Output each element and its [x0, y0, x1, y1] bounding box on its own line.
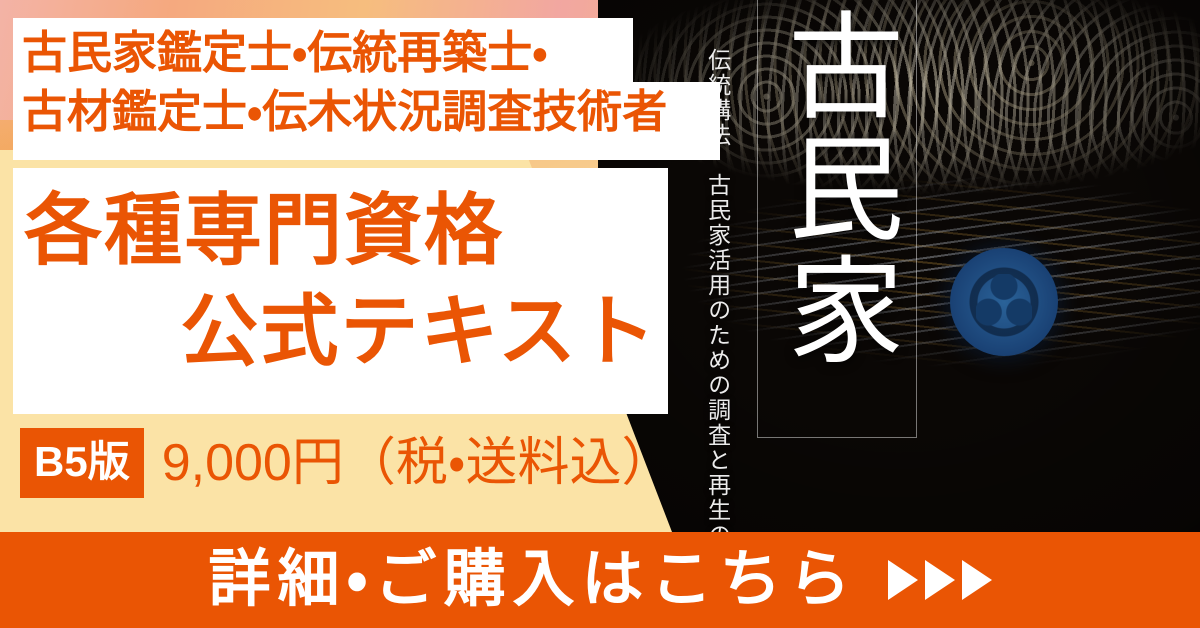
promo-banner: 伝統構法 古民家活用のための調査と再生の 古民家 古民家鑑定士・伝統再築士・ 古…: [0, 0, 1200, 628]
format-badge: B5版: [20, 428, 144, 498]
cta-arrow-group: [888, 560, 992, 600]
headline-line-2: 古材鑑定士・伝木状況調査技術者: [22, 83, 722, 142]
main-title-line-2: 公式テキスト: [24, 281, 664, 382]
cta-bar[interactable]: 詳細・ご購入はこちら: [0, 532, 1200, 628]
headline-line-1: 古民家鑑定士・伝統再築士・: [22, 24, 722, 83]
headline: 古民家鑑定士・伝統再築士・ 古材鑑定士・伝木状況調査技術者: [22, 24, 722, 141]
play-arrow-icon: [925, 560, 955, 600]
play-arrow-icon: [962, 560, 992, 600]
cta-label: 詳細・ご購入はこちら: [208, 549, 857, 611]
main-title-line-1: 各種専門資格: [24, 180, 664, 281]
book-title: 古民家: [772, 6, 902, 372]
price-amount: 9,000円（税・送料込）: [162, 437, 674, 489]
main-title: 各種専門資格 公式テキスト: [24, 180, 664, 383]
price-row: B5版 9,000円（税・送料込）: [20, 428, 674, 498]
play-arrow-icon: [888, 560, 918, 600]
